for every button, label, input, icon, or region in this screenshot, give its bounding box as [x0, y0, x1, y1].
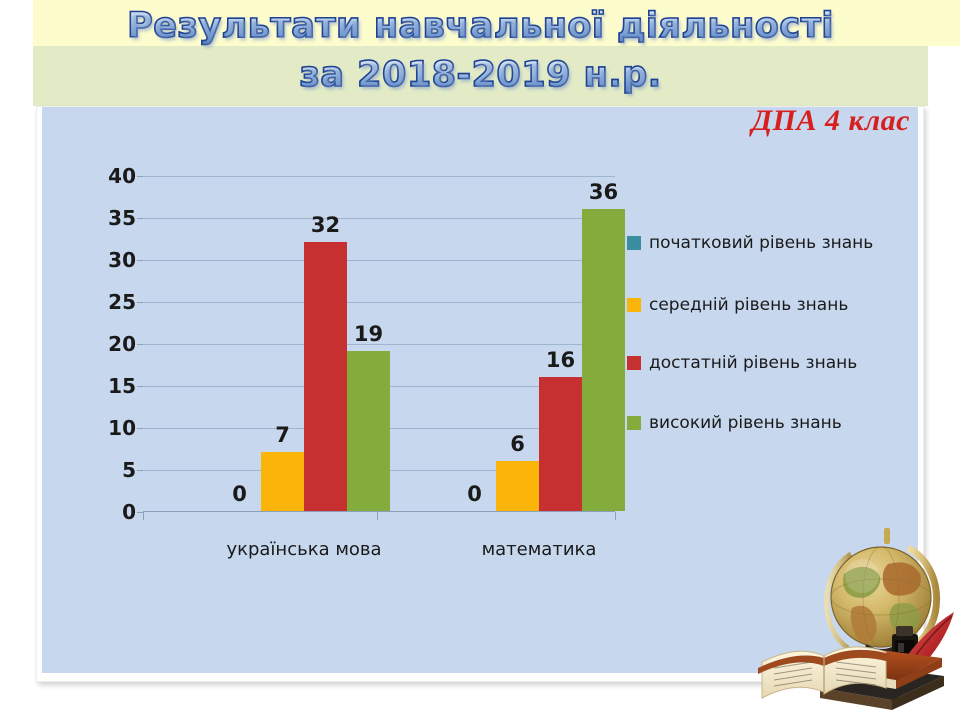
chart-subtitle: ДПА 4 клас [600, 104, 910, 138]
y-axis-tick-label: 10 [76, 416, 136, 440]
page-title: Результати навчальної діяльності за 2018… [33, 2, 928, 106]
category-separator [377, 512, 378, 520]
legend-item[interactable]: початковий рівень знань [627, 232, 873, 255]
gridline [143, 176, 615, 177]
y-axis-tick [137, 344, 143, 345]
y-axis-tick [137, 386, 143, 387]
bar-value-label: 19 [354, 322, 383, 346]
bar [539, 377, 582, 511]
legend-label: високий рівень знань [649, 412, 842, 435]
plot-area: 073219061636 [143, 176, 615, 512]
bar [261, 452, 304, 511]
y-axis-tick-label: 20 [76, 332, 136, 356]
category-separator [143, 512, 144, 520]
legend-item[interactable]: середній рівень знань [627, 294, 848, 317]
bar-value-label: 0 [467, 482, 482, 506]
bar-value-label: 32 [311, 213, 340, 237]
gridline [143, 260, 615, 261]
legend-swatch-icon [627, 356, 641, 370]
y-axis-tick [137, 470, 143, 471]
globe-books-quill-icon [748, 512, 960, 712]
y-axis-tick-label: 25 [76, 290, 136, 314]
y-axis-tick-label: 0 [76, 500, 136, 524]
title-line-1: Результати навчальної діяльності [33, 2, 928, 51]
y-axis-tick [137, 260, 143, 261]
bar [347, 351, 390, 511]
gridline [143, 302, 615, 303]
bar-value-label: 6 [510, 432, 525, 456]
y-axis-tick [137, 302, 143, 303]
bar-value-label: 0 [232, 482, 247, 506]
legend-swatch-icon [627, 416, 641, 430]
bar [582, 209, 625, 511]
y-axis-tick-label: 30 [76, 248, 136, 272]
title-line-2: за 2018-2019 н.р. [33, 51, 928, 100]
slide: Результати навчальної діяльності за 2018… [0, 0, 960, 720]
x-axis-category-label: математика [482, 539, 597, 560]
legend-item[interactable]: високий рівень знань [627, 412, 842, 435]
y-axis-tick-label: 5 [76, 458, 136, 482]
y-axis-labels: 0510152025303540 [68, 176, 136, 512]
x-axis-line [143, 511, 615, 512]
legend-label: початковий рівень знань [649, 232, 873, 255]
bar-value-label: 16 [546, 348, 575, 372]
x-axis-category-label: українська мова [226, 539, 381, 560]
gridline [143, 218, 615, 219]
legend-swatch-icon [627, 298, 641, 312]
legend-label: достатній рівень знань [649, 352, 857, 375]
bar-value-label: 36 [589, 180, 618, 204]
legend-label: середній рівень знань [649, 294, 848, 317]
bar-value-label: 7 [275, 423, 290, 447]
legend-swatch-icon [627, 236, 641, 250]
y-axis-tick-label: 40 [76, 164, 136, 188]
y-axis-tick [137, 218, 143, 219]
category-separator [615, 512, 616, 520]
bar [304, 242, 347, 511]
legend-item[interactable]: достатній рівень знань [627, 352, 857, 375]
y-axis-tick [137, 428, 143, 429]
y-axis-tick-label: 35 [76, 206, 136, 230]
bar [496, 461, 539, 511]
y-axis-tick [137, 176, 143, 177]
y-axis-tick-label: 15 [76, 374, 136, 398]
